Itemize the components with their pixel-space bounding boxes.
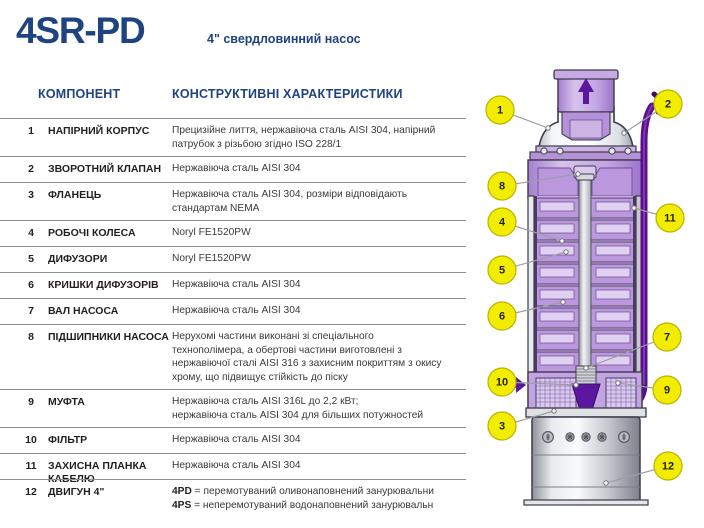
callout-label: 10 xyxy=(496,377,508,389)
callout-anchor-dot xyxy=(576,172,580,176)
table-row: 2ЗВОРОТНИЙ КЛАПАННержавіюча сталь AISI 3… xyxy=(0,156,468,182)
table-row: 8ПІДШИПНИКИ НАСОСАНерухомі частини викон… xyxy=(0,324,468,389)
component-description: Нержавіюча сталь AISI 304 xyxy=(172,278,472,292)
row-number: 5 xyxy=(22,253,40,265)
component-name: ВАЛ НАСОСА xyxy=(48,305,170,318)
pump-shaft xyxy=(576,174,594,376)
row-number: 4 xyxy=(22,227,40,239)
table-row: 11ЗАХИСНА ПЛАНКА КАБЕЛЮНержавіюча сталь … xyxy=(0,453,468,479)
callout-label: 8 xyxy=(499,181,505,193)
callout-anchor-dot xyxy=(561,300,565,304)
callout-anchor-dot xyxy=(574,383,578,387)
component-description: Нержавіюча сталь AISI 304 xyxy=(172,433,472,447)
table-body: 1НАПІРНИЙ КОРПУСПрецизійне лиття, нержав… xyxy=(0,118,468,517)
row-number: 10 xyxy=(22,434,40,446)
callout-label: 6 xyxy=(499,311,505,323)
component-name: МУФТА xyxy=(48,396,170,409)
discharge-head xyxy=(530,70,642,175)
callout-label: 7 xyxy=(664,332,670,344)
pump-cutaway-diagram: 128411567109312 xyxy=(466,0,704,528)
callout-anchor-dot xyxy=(604,481,608,485)
component-name: РОБОЧІ КОЛЕСА xyxy=(48,227,170,240)
table-row: 5ДИФУЗОРИNoryl FE1520PW xyxy=(0,246,468,272)
component-description: Noryl FE1520PW xyxy=(172,252,472,266)
page-title: 4SR-PD xyxy=(16,12,145,49)
component-description: Noryl FE1520PW xyxy=(172,226,472,240)
submersible-motor xyxy=(524,417,648,505)
callout-anchor-dot xyxy=(560,239,564,243)
callout-label: 9 xyxy=(664,385,670,397)
suction-filter-section xyxy=(502,366,646,417)
column-header-component: КОМПОНЕНТ xyxy=(38,87,120,101)
table-row: 3ФЛАНЕЦЬНержавіюча сталь AISI 304, розмі… xyxy=(0,182,468,220)
component-description: Нержавіюча сталь AISI 304, розміри відпо… xyxy=(172,188,472,215)
callout-anchor-dot xyxy=(564,250,568,254)
row-number: 11 xyxy=(22,460,40,472)
callout-label: 3 xyxy=(499,421,505,433)
callout-anchor-dot xyxy=(622,131,626,135)
callout-label: 12 xyxy=(662,461,674,473)
callout-anchor-dot xyxy=(584,366,588,370)
row-number: 8 xyxy=(22,331,40,343)
callout-anchor-dot xyxy=(546,126,550,130)
callout-anchor-dot xyxy=(632,206,636,210)
row-number: 12 xyxy=(22,486,40,498)
page-subtitle: 4" свердловинний насос xyxy=(207,32,361,46)
datasheet-page: 4SR-PD 4" свердловинний насос КОМПОНЕНТ … xyxy=(0,0,704,528)
motor-screw-icon xyxy=(566,433,606,441)
table-row: 9МУФТАНержавіюча сталь AISI 316L до 2,2 … xyxy=(0,389,468,427)
table-row: 1НАПІРНИЙ КОРПУСПрецизійне лиття, нержав… xyxy=(0,118,468,156)
callout-label: 5 xyxy=(499,265,505,277)
component-name: ДИФУЗОРИ xyxy=(48,253,170,266)
component-name: КРИШКИ ДИФУЗОРІВ xyxy=(48,279,170,292)
table-header-row: КОМПОНЕНТ КОНСТРУКТИВНІ ХАРАКТЕРИСТИКИ xyxy=(0,86,468,118)
component-name: НАПІРНИЙ КОРПУС xyxy=(48,125,170,138)
component-description: Нержавіюча сталь AISI 304 xyxy=(172,162,472,176)
component-description: Прецизійне лиття, нержавіюча сталь AISI … xyxy=(172,124,472,151)
component-description: Нержавіюча сталь AISI 304 xyxy=(172,304,472,318)
callout-label: 1 xyxy=(497,105,503,117)
component-name: ФІЛЬТР xyxy=(48,434,170,447)
component-description: Нержавіюча сталь AISI 304 xyxy=(172,459,472,473)
row-number: 9 xyxy=(22,396,40,408)
callout-1[interactable]: 1 xyxy=(486,96,550,130)
component-name: ПІДШИПНИКИ НАСОСА xyxy=(48,331,170,344)
component-name: ФЛАНЕЦЬ xyxy=(48,189,170,202)
table-row: 7ВАЛ НАСОСАНержавіюча сталь AISI 304 xyxy=(0,298,468,324)
component-description: Нержавіюча сталь AISI 316L до 2,2 кВт; н… xyxy=(172,395,472,422)
callout-anchor-dot xyxy=(552,409,556,413)
callout-label: 2 xyxy=(665,99,671,111)
row-number: 3 xyxy=(22,189,40,201)
component-description: 4PD = перемотуваний оливонаповнений зану… xyxy=(172,485,472,512)
row-number: 6 xyxy=(22,279,40,291)
table-row: 10ФІЛЬТРНержавіюча сталь AISI 304 xyxy=(0,427,468,453)
component-description: Нерухомі частини виконані зі спеціальног… xyxy=(172,330,472,384)
table-row: 4РОБОЧІ КОЛЕСАNoryl FE1520PW xyxy=(0,220,468,246)
component-name: ЗВОРОТНИЙ КЛАПАН xyxy=(48,163,170,176)
row-number: 7 xyxy=(22,305,40,317)
column-header-characteristics: КОНСТРУКТИВНІ ХАРАКТЕРИСТИКИ xyxy=(172,87,403,101)
callout-label: 4 xyxy=(499,217,506,229)
callout-label: 11 xyxy=(664,213,676,225)
component-name: ДВИГУН 4" xyxy=(48,486,170,499)
components-table: КОМПОНЕНТ КОНСТРУКТИВНІ ХАРАКТЕРИСТИКИ 1… xyxy=(0,86,468,517)
callout-anchor-dot xyxy=(616,381,620,385)
table-row: 12ДВИГУН 4"4PD = перемотуваний оливонапо… xyxy=(0,479,468,517)
row-number: 1 xyxy=(22,125,40,137)
row-number: 2 xyxy=(22,163,40,175)
table-row: 6КРИШКИ ДИФУЗОРІВНержавіюча сталь AISI 3… xyxy=(0,272,468,298)
